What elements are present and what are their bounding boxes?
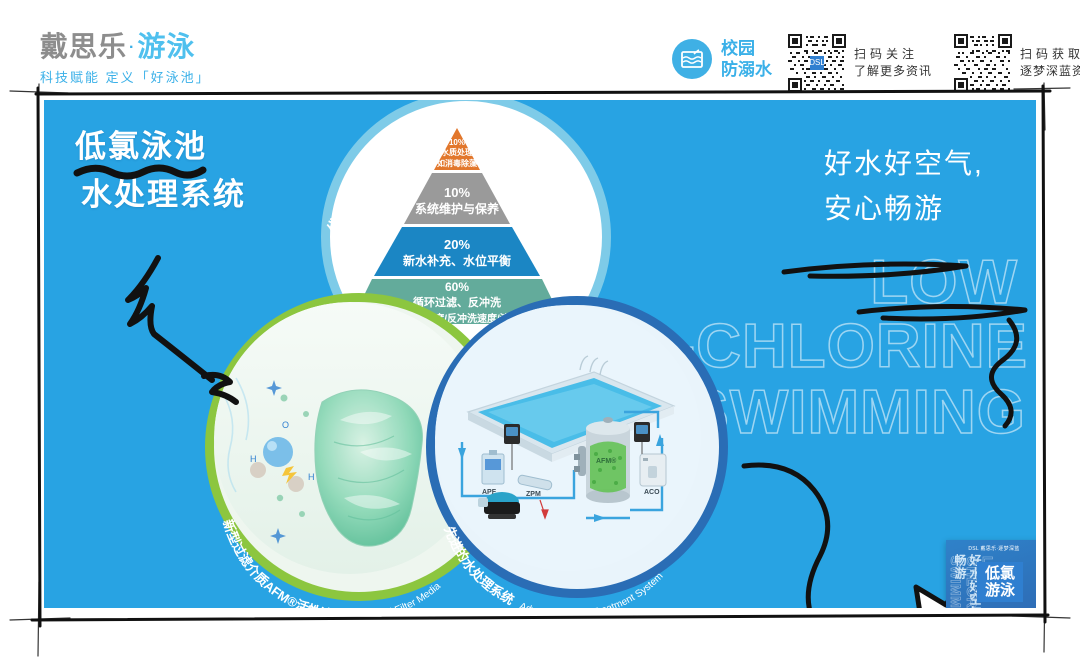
svg-text:H: H bbox=[308, 472, 315, 482]
logo-title: 戴思乐·游泳 bbox=[40, 33, 211, 61]
outline-word-chlorine: -CHLORINE bbox=[675, 316, 1028, 378]
equipment-diagram: APF ZPM AFM® ACO bbox=[444, 350, 694, 535]
left-title-line1: 低氯泳池 bbox=[75, 123, 246, 171]
card-brand-line: DSL 戴思乐·逐梦深蓝 bbox=[946, 545, 1036, 552]
curve-bottom-right bbox=[744, 465, 828, 608]
equipment-label-afm: AFM® bbox=[596, 458, 616, 465]
campus-line2: 防溺水 bbox=[721, 59, 772, 80]
svg-text:DSL: DSL bbox=[809, 58, 825, 67]
pool-illustration bbox=[468, 356, 674, 462]
qr-caption-line2: 逐梦深蓝资料 bbox=[1020, 63, 1080, 80]
campus-safety-badge: 校园 防溺水 bbox=[672, 38, 772, 81]
svg-text:O: O bbox=[282, 420, 289, 430]
equipment-label-zpm: ZPM bbox=[526, 491, 541, 498]
pool-icon bbox=[672, 39, 712, 79]
tier4-pct: 60% bbox=[445, 280, 469, 294]
outline-word-swimming: SWIMMING bbox=[687, 382, 1026, 444]
pyramid-tier-3: 20% 新水补充、水位平衡 bbox=[350, 232, 564, 274]
dosing-lines bbox=[540, 500, 548, 518]
tier3-label: 新水补充、水位平衡 bbox=[403, 252, 511, 269]
card-badge-line2: 游泳 bbox=[985, 582, 1015, 599]
right-title-line1: 好水好空气, bbox=[824, 142, 984, 187]
aco-unit bbox=[640, 454, 666, 486]
zpm-unit bbox=[517, 475, 552, 491]
logo-dot: · bbox=[127, 39, 137, 56]
tier3-pct: 20% bbox=[444, 237, 470, 252]
qr-caption-line1: 扫码关注 bbox=[854, 46, 932, 63]
qr-caption: 扫码关注 了解更多资讯 bbox=[854, 46, 932, 81]
tier2-label: 系统维护与保养 bbox=[415, 200, 499, 217]
tier1-label: 水质处理 bbox=[441, 147, 473, 158]
poster-left-title: 低氯泳池 水处理系统 bbox=[75, 123, 246, 219]
right-title-line2: 安心畅游 bbox=[824, 187, 984, 232]
qr-caption: 扫码获取 逐梦深蓝资料 bbox=[1020, 46, 1080, 81]
tier1-pct: 10% bbox=[449, 138, 465, 147]
promo-card[interactable]: DSL 戴思乐·逐梦深蓝 LOW-CHLORINE SWIMMING 好水好空气… bbox=[946, 540, 1036, 608]
pyramid-tier-2: 10% 系统维护与保养 bbox=[350, 180, 564, 222]
qr-caption-line1: 扫码获取 bbox=[1020, 46, 1080, 63]
tier2-pct: 10% bbox=[444, 185, 470, 200]
outline-word-low: LOW bbox=[870, 252, 1018, 314]
tier1-sub: 如消毒除藻 bbox=[437, 158, 477, 169]
qr-caption-line2: 了解更多资讯 bbox=[854, 63, 932, 80]
brand-logo: 戴思乐·游泳 科技赋能 定义「好泳池」 bbox=[40, 33, 211, 86]
poster-canvas: LOW -CHLORINE SWIMMING 低氯泳池 水处理系统 好水好空气,… bbox=[44, 100, 1036, 608]
equipment-label-aco: ACO bbox=[644, 489, 660, 496]
logo-text-swim: 游泳 bbox=[137, 31, 195, 62]
left-title-line2: 水处理系统 bbox=[75, 171, 246, 219]
svg-text:H: H bbox=[250, 454, 257, 464]
poster-right-title: 好水好空气, 安心畅游 bbox=[824, 142, 984, 232]
tier4-label: 循环过滤、反冲洗 bbox=[413, 294, 501, 310]
logo-text-cn: 戴思乐 bbox=[40, 31, 127, 62]
arrow-to-afm bbox=[128, 258, 212, 380]
card-badge: 低氯 游泳 bbox=[977, 562, 1023, 602]
equipment-label-apf: APF bbox=[482, 489, 496, 496]
poster-page: 戴思乐·游泳 科技赋能 定义「好泳池」 校园 防溺水 bbox=[0, 0, 1080, 663]
campus-safety-text: 校园 防溺水 bbox=[721, 38, 772, 81]
pyramid-tier-1: 10% 水质处理 如消毒除藻 bbox=[350, 134, 564, 172]
apf-unit bbox=[482, 450, 504, 484]
poster-frame-wrapper: LOW -CHLORINE SWIMMING 低氯泳池 水处理系统 好水好空气,… bbox=[8, 82, 1072, 657]
campus-line1: 校园 bbox=[721, 38, 772, 59]
card-badge-line1: 低氯 bbox=[985, 565, 1015, 582]
